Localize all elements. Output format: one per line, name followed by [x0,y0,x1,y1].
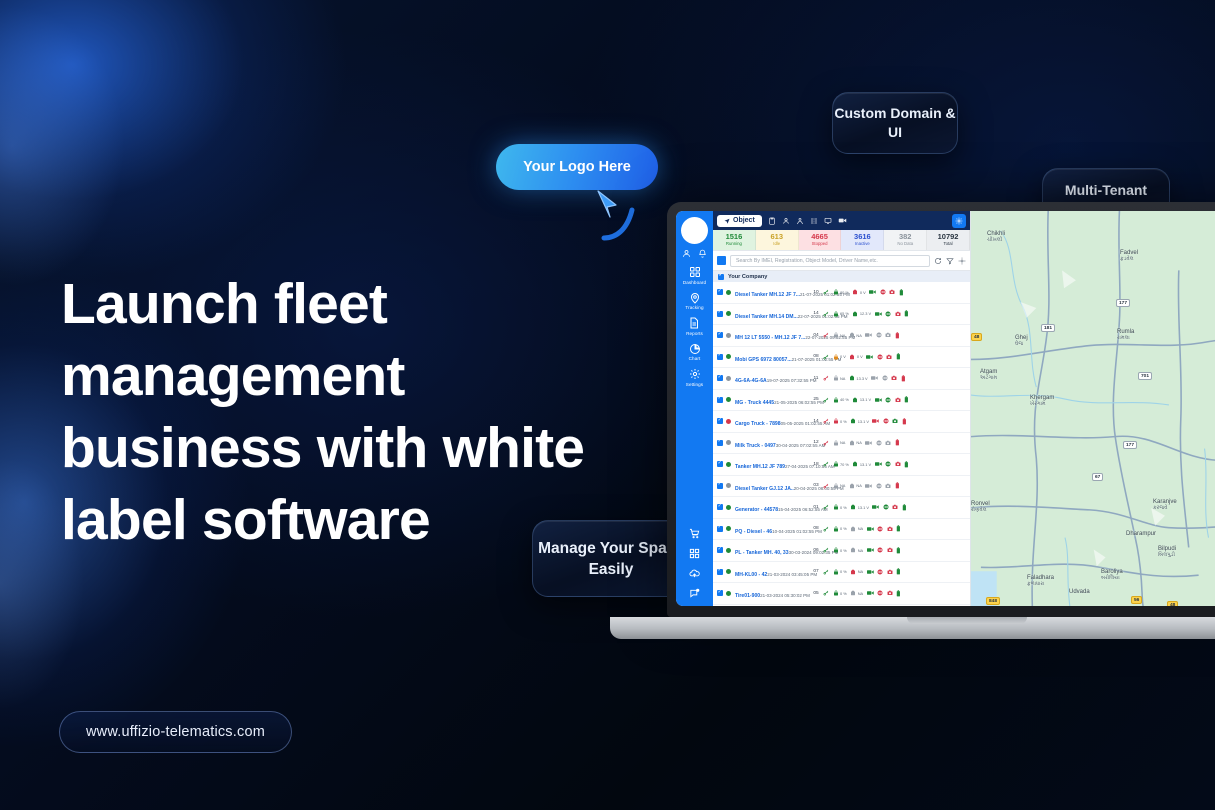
sidebar-item-reports[interactable]: Reports [686,317,703,336]
record-icon[interactable] [876,483,882,489]
key-icon[interactable] [823,354,829,360]
fuel-icon[interactable] [896,590,901,597]
row-metrics: 0 V0 V [823,353,970,360]
record-icon[interactable] [883,504,889,510]
object-count: 03 [809,483,823,488]
row-checkbox[interactable] [717,461,723,467]
object-name: Tire01-900 [735,593,760,599]
video-icon[interactable] [866,354,873,360]
video-icon[interactable] [872,504,879,510]
camera-icon[interactable] [886,354,892,360]
record-icon[interactable] [877,590,883,596]
sidebar-item-chart[interactable]: Chart [689,343,701,362]
object-count: 07 [809,569,823,574]
status-stat-idle[interactable]: 613Idle [756,230,799,250]
camera-icon[interactable] [885,332,891,338]
object-name-cell: Generator - 4457815-04-2025 06:52:55 AM [735,498,809,516]
map-highway-shield: 48 [1167,601,1178,606]
sidebar-item-label: Dashboard [683,280,706,285]
status-stat-inactive[interactable]: 3616Inactive [841,230,884,250]
row-checkbox[interactable] [717,418,723,424]
laptop-mockup: Dashboard Tracking Reports Chart Setting… [667,202,1215,657]
stat-label: Running [726,241,742,247]
apps-grid-icon[interactable] [689,548,700,559]
key-icon[interactable] [823,461,829,467]
lock-icon [833,461,839,467]
key-icon[interactable] [823,311,829,317]
row-checkbox[interactable] [717,375,723,381]
video-icon[interactable] [872,418,879,424]
record-icon[interactable] [883,418,889,424]
user-icon[interactable] [682,249,691,258]
sidebar-item-dashboard[interactable]: Dashboard [683,266,706,285]
object-name: Diesel Tanker GJ.12 JA.. [735,486,794,492]
search-input[interactable]: Search By IMEI, Registration, Object Mod… [730,255,930,267]
lock-value: 0 % [840,526,847,531]
video-icon[interactable] [875,461,882,467]
filter-icon[interactable] [946,257,954,265]
object-name: MH-KL00 - 42 [735,572,767,578]
battery-value: NA [858,569,863,574]
camera-icon[interactable] [887,569,893,575]
video-icon[interactable] [875,397,882,403]
place-name-native: રામલા [1117,335,1134,342]
map-highway-shield: 67 [1092,473,1103,481]
battery-metric: NA [850,547,863,553]
search-row: Search By IMEI, Registration, Object Mod… [713,251,970,271]
status-badge [726,548,731,553]
object-count: 10 [809,290,823,295]
battery-metric: NA [850,590,863,596]
lock-icon [833,418,839,424]
row-metrics: 0 %13.1 V [823,418,970,425]
record-icon[interactable] [882,375,888,381]
navigation-arrow-icon [724,218,730,224]
battery-value: 13.1 V [860,462,871,467]
map-place-label: Fadvelફડવેલ [1120,250,1138,263]
chat-icon[interactable] [689,588,700,599]
map-place-label: Baroliyaબરોલિયા [1101,569,1123,582]
tab-object-label: Object [733,217,755,224]
object-list[interactable]: Diesel Tanker MH.12 JF 7...21-07-2025 01… [713,282,970,606]
camera-icon[interactable] [892,418,898,424]
lock-metric: NA [833,332,846,338]
object-name: MH 12 LT 5550 - MH.12 JF 7... [735,335,805,341]
battery-icon [852,461,858,467]
row-checkbox[interactable] [717,440,723,446]
battery-metric: 13.1 V [852,397,871,403]
object-count: 25 [809,397,823,402]
map-highway-shield: 56 [1131,596,1142,604]
object-name: PQ - Diesel - 46 [735,529,772,535]
battery-icon [852,311,858,317]
object-count: 11 [809,376,823,381]
lock-icon [833,289,839,295]
status-badge [726,311,731,316]
object-name: MG - Truck 4445 [735,400,774,406]
pie-chart-icon [689,343,701,355]
battery-value: 0 V [860,290,866,295]
battery-icon [850,526,856,532]
place-name-native: કરંજવે [1153,505,1177,512]
row-checkbox[interactable] [717,526,723,532]
status-stat-stopped[interactable]: 4665Stopped [799,230,842,250]
video-icon[interactable] [875,311,882,317]
map-place-label: Dharampur [1126,531,1156,537]
table-row[interactable]: PL - Tanker MH. 40, 3330-03-2024 09:02:3… [713,540,970,562]
lock-metric: 65 % [833,311,849,317]
person-pin-icon[interactable] [782,217,790,225]
status-badge [726,526,731,531]
battery-value: NA [858,548,863,553]
object-name: PL - Tanker MH. 40, 33 [735,550,789,556]
table-row[interactable]: Mobi GPS 6972 80057...21-07-2025 01:02:5… [713,347,970,369]
row-checkbox[interactable] [717,483,723,489]
video-icon[interactable] [867,526,874,532]
row-metrics: 0 %NA [823,568,970,575]
group-checkbox[interactable] [718,274,724,280]
object-count: 12 [809,440,823,445]
battery-metric: 13.1 V [850,418,869,424]
place-name-native: ફડવેલ [1120,256,1138,263]
row-checkbox[interactable] [717,354,723,360]
battery-icon [850,547,856,553]
status-stat-no-data[interactable]: 382No Data [884,230,927,250]
key-icon[interactable] [823,526,829,532]
lock-metric: 0 % [833,569,847,575]
app-sidebar: Dashboard Tracking Reports Chart Setting… [676,211,713,606]
row-metrics: 0 %NA [823,547,970,554]
fuel-icon[interactable] [896,525,901,532]
fuel-icon[interactable] [896,568,901,575]
row-checkbox[interactable] [717,547,723,553]
record-icon[interactable] [885,397,891,403]
status-badge [726,569,731,574]
camera-icon[interactable] [885,483,891,489]
stat-value: 4665 [811,233,828,241]
video-icon[interactable] [867,590,874,596]
record-icon[interactable] [885,461,891,467]
row-metrics: 40 %13.1 V [823,396,970,403]
bell-icon[interactable] [698,249,707,258]
object-count: 06 [809,548,823,553]
camera-icon[interactable] [885,440,891,446]
object-name-cell: Tire01-90021-03-2024 05:30:02 PM [735,584,809,602]
table-row[interactable]: MH-KL00 - 4221-03-2024 03:45:05 PM070 %N… [713,562,970,584]
camera-icon[interactable] [887,526,893,532]
row-checkbox[interactable] [717,289,723,295]
battery-value: NA [858,591,863,596]
table-row[interactable]: Generator - 4457815-04-2025 06:52:55 AM0… [713,497,970,519]
object-name: Milk Truck - 0497 [735,443,776,449]
table-row[interactable]: PQ - Diesel - 4610-04-2025 01:02:55 PM08… [713,519,970,541]
table-row[interactable]: Diesel Tanker GJ.12 JA..20-04-2025 08:00… [713,476,970,498]
map-place-label: Ronvelરોણવેલ [971,501,990,514]
map-highway-shield: 48 [971,333,982,341]
status-stat-running[interactable]: 1516Running [713,230,756,250]
key-icon[interactable] [823,547,829,553]
key-icon[interactable] [823,483,829,489]
lock-value: 70 % [840,462,849,467]
row-checkbox[interactable] [717,504,723,510]
driver-icon[interactable] [796,217,804,225]
battery-value: 13.1 V [858,505,869,510]
place-name-native: ચીખલી [987,237,1005,244]
lock-metric: 70 % [833,461,849,467]
row-checkbox[interactable] [717,332,723,338]
video-icon[interactable] [865,483,872,489]
fuel-icon[interactable] [901,375,906,382]
key-icon[interactable] [823,569,829,575]
place-name-native: ઘેજ [1015,341,1028,348]
key-icon[interactable] [823,375,829,381]
camera-icon[interactable] [891,375,897,381]
map-highway-shield: 848 [986,597,1000,605]
table-row[interactable]: Milk Truck - 049730-04-2025 07:02:55 AM1… [713,433,970,455]
app-screen: Dashboard Tracking Reports Chart Setting… [676,211,1215,606]
map-canvas[interactable]: ChikhliચીખલીFadvelફડવેલGhejઘેજRumlaરામલા… [971,211,1215,606]
tab-object[interactable]: Object [717,215,762,227]
camera-icon[interactable] [892,504,898,510]
key-icon[interactable] [823,440,829,446]
record-icon[interactable] [880,289,886,295]
video-icon[interactable] [869,289,876,295]
document-icon [688,317,700,329]
sidebar-item-tracking[interactable]: Tracking [685,292,703,311]
map-place-label: Udvada [1069,589,1090,595]
camera-icon[interactable] [895,311,901,317]
fuel-icon[interactable] [904,461,909,468]
battery-icon [849,483,855,489]
fuel-icon[interactable] [896,547,901,554]
place-name: Udvada [1069,589,1090,595]
video-icon[interactable] [867,547,874,553]
battery-metric: NA [850,569,863,575]
video-icon[interactable] [838,216,847,225]
lock-value: 0 % [840,569,847,574]
clipboard-icon[interactable] [768,217,776,225]
row-metrics: 80 %0 V [823,289,970,296]
map-place-label: Ghejઘેજ [1015,335,1028,348]
video-icon[interactable] [871,375,878,381]
fuel-icon[interactable] [902,418,907,425]
cloud-upload-icon[interactable] [689,568,700,579]
object-panel: Object 1516Running613Idle4665Stopped3616… [713,211,971,606]
status-summary-bar: 1516Running613Idle4665Stopped3616Inactiv… [713,230,970,251]
object-name-cell: Cargo Truck - 789805-05-2025 01:02:55 AM [735,412,809,430]
battery-value: 13.1 V [858,419,869,424]
road-icon[interactable] [810,217,818,225]
key-icon[interactable] [823,332,829,338]
lock-metric: 0 % [833,526,847,532]
group-header-row[interactable]: Your Company [713,271,970,282]
object-name-cell: MH-KL00 - 4221-03-2024 03:45:05 PM [735,563,809,581]
lock-icon [833,397,839,403]
sidebar-item-settings[interactable]: Settings [686,368,703,387]
fuel-icon[interactable] [902,504,907,511]
object-name: Generator - 44578 [735,507,778,513]
map-highway-shield: 177 [1116,299,1130,307]
stat-value: 10792 [938,233,959,241]
lock-value: NA [840,440,845,445]
avatar[interactable] [681,217,708,244]
object-count: 08 [809,526,823,531]
key-icon[interactable] [823,289,829,295]
place-name-native: બરોલિયા [1101,575,1123,582]
record-icon[interactable] [877,354,883,360]
camera-icon[interactable] [887,590,893,596]
table-row[interactable]: Cargo Truck - 789805-05-2025 01:02:55 AM… [713,411,970,433]
table-row[interactable]: Tanker MH.12 JF 78927-04-2025 07:10:55 A… [713,454,970,476]
fuel-icon[interactable] [895,332,900,339]
place-name-native: ફળાધારા [1027,581,1054,588]
battery-metric: 13.1 V [850,504,869,510]
table-row[interactable]: Diesel Tanker MH.14 DM...22-07-2025 01:0… [713,304,970,326]
cursor-arrow-icon [594,188,654,244]
laptop-lid: Dashboard Tracking Reports Chart Setting… [667,202,1215,617]
lock-icon [833,354,839,360]
stat-label: Idle [773,241,780,247]
fuel-icon[interactable] [904,396,909,403]
key-icon[interactable] [823,590,829,596]
battery-value: 12.3 V [860,311,871,316]
map-place-label: Khergamખેરગામ [1030,395,1054,408]
lock-metric: 0 % [833,418,847,424]
website-url-pill[interactable]: www.uffizio-telematics.com [59,711,292,753]
object-count: 14 [809,311,823,316]
gear-icon [689,368,701,380]
lock-value: 0 % [840,591,847,596]
map-place-label: Faladharaફળાધારા [1027,575,1054,588]
object-count: 05 [809,591,823,596]
battery-metric: 13.1 V [852,461,871,467]
panel-topbar: Object [713,211,970,230]
object-name: Diesel Tanker MH.14 DM... [735,314,798,320]
your-logo-here-badge[interactable]: Your Logo Here [496,144,658,190]
battery-metric: 0 V [852,289,865,295]
place-name-native: ખેરગામ [1030,401,1054,408]
lock-metric: 0 % [833,547,847,553]
fuel-icon[interactable] [899,289,904,296]
lock-metric: NA [833,440,846,446]
battery-icon [852,289,858,295]
row-checkbox[interactable] [717,311,723,317]
stat-value: 382 [899,233,912,241]
table-row[interactable]: MH 12 LT 5550 - MH.12 JF 7...22-07-2025 … [713,325,970,347]
battery-metric: NA [849,332,862,338]
table-row[interactable]: Laptop - 9120-03-2024 09:20:55 AM16NA13.… [713,605,970,607]
object-name: Mobi GPS 6972 80057... [735,357,792,363]
object-count: 08 [809,354,823,359]
settings-icon[interactable] [958,257,966,265]
status-badge [726,397,731,402]
map-highway-shield: 177 [1123,441,1137,449]
map-place-label: Chikhliચીખલી [987,231,1005,244]
battery-metric: NA [849,440,862,446]
key-icon[interactable] [823,397,829,403]
lock-value: 80 % [840,290,849,295]
status-badge [726,290,731,295]
battery-metric: NA [849,483,862,489]
fuel-icon[interactable] [895,482,900,489]
status-badge [726,591,731,596]
record-icon[interactable] [885,311,891,317]
table-row[interactable]: Diesel Tanker MH.12 JF 7...21-07-2025 01… [713,282,970,304]
status-stat-total[interactable]: 10792Total [927,230,970,250]
record-icon[interactable] [877,547,883,553]
object-count: 04 [809,333,823,338]
panel-settings-button[interactable] [952,214,966,228]
stat-value: 3616 [854,233,871,241]
record-icon[interactable] [877,526,883,532]
callout-custom-domain: Custom Domain & UI [832,92,958,154]
cart-icon[interactable] [689,528,700,539]
object-timestamp: 21-03-2024 05:30:02 PM [760,593,810,598]
place-name-native: રોણવેલ [971,507,990,514]
lock-value: NA [840,376,845,381]
record-icon[interactable] [876,440,882,446]
lock-metric: 0 V [833,354,846,360]
lock-metric: NA [833,483,846,489]
video-icon[interactable] [865,440,872,446]
camera-icon[interactable] [887,547,893,553]
battery-value: 13.3 V [856,376,867,381]
status-badge [726,376,731,381]
key-icon[interactable] [823,504,829,510]
fuel-icon[interactable] [895,439,900,446]
table-row[interactable]: 4G-6A-4G-6A19-07-2025 07:32:55 PM11NA13.… [713,368,970,390]
row-checkbox[interactable] [717,397,723,403]
camera-icon[interactable] [895,461,901,467]
object-name-cell: 4G-6A-4G-6A19-07-2025 07:32:55 PM [735,369,809,387]
video-icon[interactable] [867,569,874,575]
map-place-label: Karanjveકરંજવે [1153,499,1177,512]
battery-icon [850,504,856,510]
camera-icon[interactable] [895,397,901,403]
monitor-icon[interactable] [824,217,832,225]
fuel-icon[interactable] [904,310,909,317]
object-name-cell: Diesel Tanker MH.14 DM...22-07-2025 01:0… [735,305,809,323]
object-count: 14 [809,419,823,424]
lock-value: 0 % [840,505,847,510]
table-row[interactable]: MG - Truck 444521-05-2025 06:02:55 PM254… [713,390,970,412]
record-icon[interactable] [876,332,882,338]
row-checkbox[interactable] [717,590,723,596]
table-row[interactable]: Tire01-90021-03-2024 05:30:02 PM050 %NA [713,583,970,605]
battery-value: NA [856,333,861,338]
select-all-checkbox[interactable] [717,256,726,265]
battery-value: 13.1 V [860,397,871,402]
lock-metric: 80 % [833,289,849,295]
key-icon[interactable] [823,418,829,424]
fuel-icon[interactable] [896,353,901,360]
video-icon[interactable] [865,332,872,338]
battery-value: NA [856,440,861,445]
camera-icon[interactable] [889,289,895,295]
row-metrics: NANA [823,439,970,446]
object-name-cell: Diesel Tanker MH.12 JF 7...21-07-2025 01… [735,283,809,301]
battery-icon [849,332,855,338]
row-checkbox[interactable] [717,569,723,575]
battery-icon [850,590,856,596]
row-metrics: 0 %NA [823,590,970,597]
lock-icon [833,332,839,338]
lock-value: 0 % [840,419,847,424]
record-icon[interactable] [877,569,883,575]
battery-icon [849,440,855,446]
row-metrics: 70 %13.1 V [823,461,970,468]
refresh-icon[interactable] [934,257,942,265]
